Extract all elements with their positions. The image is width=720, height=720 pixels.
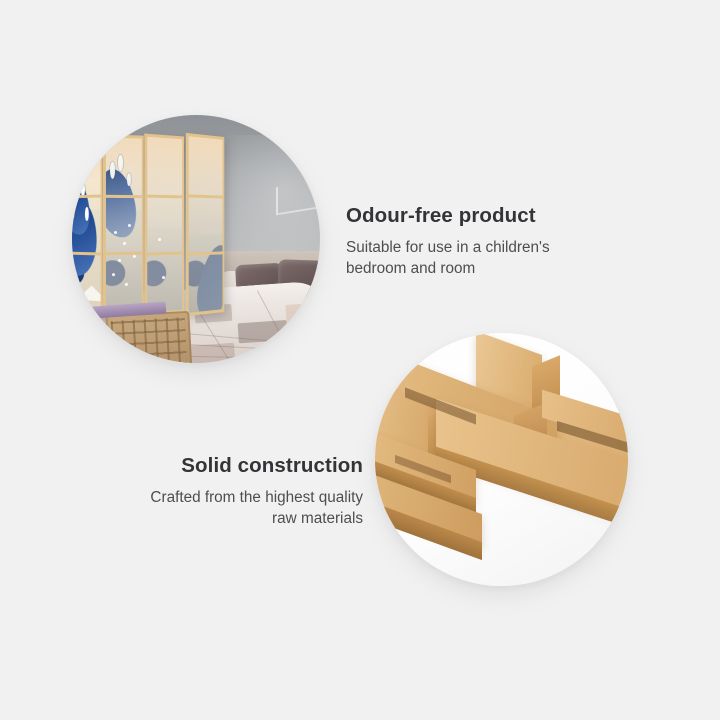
divider-panel-3: [144, 133, 184, 315]
feature-odour-free-description: Suitable for use in a children's bedroom…: [346, 237, 646, 280]
feature-collage-canvas: Odour-free product Suitable for use in a…: [0, 0, 720, 720]
feature-solid-construction-title: Solid construction: [63, 453, 363, 479]
divider-panel-1: [72, 133, 103, 315]
feature-odour-free-title: Odour-free product: [346, 203, 646, 229]
stacked-timber-photo: [375, 333, 628, 586]
feature-solid-construction-description: Crafted from the highest quality raw mat…: [63, 487, 363, 530]
wicker-basket: [105, 311, 193, 363]
feature-odour-free-text: Odour-free product Suitable for use in a…: [346, 203, 646, 280]
divider-panel-4: [186, 133, 224, 316]
folding-room-divider: [72, 135, 226, 314]
bedroom-room-divider-photo: [72, 115, 320, 363]
feature-solid-construction-text: Solid construction Crafted from the high…: [63, 453, 363, 530]
divider-panel-2: [103, 134, 144, 314]
